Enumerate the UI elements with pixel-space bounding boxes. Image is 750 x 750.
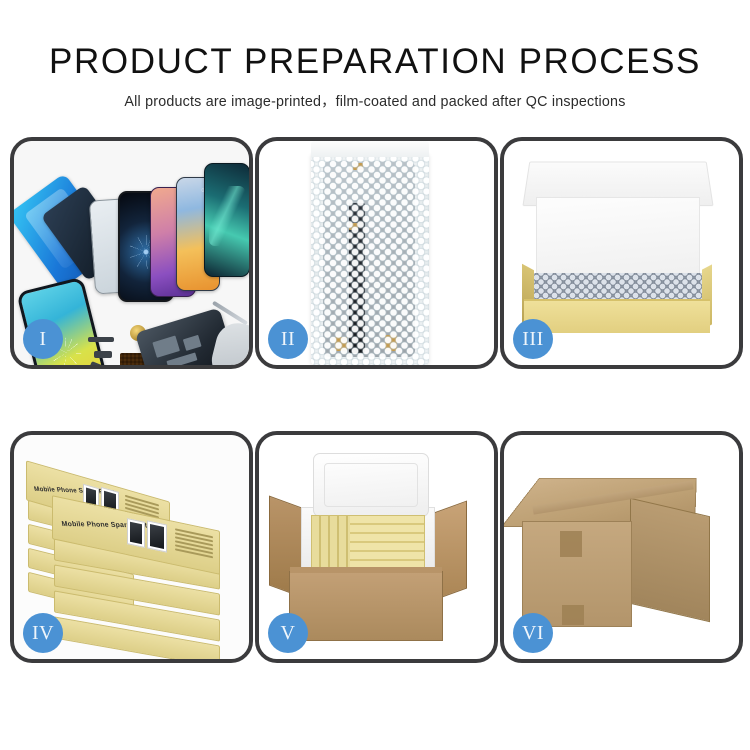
bag-seal-top [311, 141, 429, 157]
step-6-image: VI [504, 435, 739, 659]
process-step-2: II [255, 137, 498, 369]
carton-right-panel [630, 498, 710, 622]
page-title: PRODUCT PREPARATION PROCESS [0, 0, 750, 81]
step-badge-4: IV [23, 613, 63, 653]
packing-tape-lower [562, 605, 584, 625]
carton-front-panel [289, 571, 443, 641]
process-step-4: Mobile Phone Spare Parts Mobile Phone Sp… [10, 431, 253, 663]
step-2-image: II [259, 141, 494, 365]
bubble-texture [311, 153, 429, 365]
step-4-image: Mobile Phone Spare Parts Mobile Phone Sp… [14, 435, 249, 659]
box-window-front-1 [127, 518, 145, 548]
teal-gradient-phone [204, 163, 249, 277]
step-1-image: 08:08 [14, 141, 249, 365]
speaker-strip-part [88, 337, 114, 342]
step-5-image: V [259, 435, 494, 659]
product-preparation-page: PRODUCT PREPARATION PROCESS All products… [0, 0, 750, 750]
process-step-5: V [255, 431, 498, 663]
process-step-6: VI [500, 431, 743, 663]
step-badge-2: II [268, 319, 308, 359]
step-badge-1: I [23, 319, 63, 359]
page-subtitle: All products are image-printed，film-coat… [0, 81, 750, 111]
box-window-front-2 [147, 520, 167, 552]
inner-boxes-loaded [311, 515, 425, 569]
small-cable-part [94, 351, 112, 358]
bubble-wrap-bag [311, 153, 429, 365]
packing-tape-upper [560, 531, 582, 557]
process-step-grid: 08:08 [10, 137, 740, 697]
process-step-3: III [500, 137, 743, 369]
box-feature-list-front [175, 528, 213, 560]
white-foam-sheet [536, 197, 700, 277]
memory-chip [183, 335, 202, 351]
inner-box-front [524, 299, 710, 333]
step-badge-3: III [513, 319, 553, 359]
connector-chip [166, 352, 197, 365]
foam-lid [313, 453, 429, 517]
step-badge-5: V [268, 613, 308, 653]
page-header: PRODUCT PREPARATION PROCESS All products… [0, 0, 750, 111]
step-3-image: III [504, 141, 739, 365]
step-badge-6: VI [513, 613, 553, 653]
cpu-chip [152, 335, 180, 357]
process-step-1: 08:08 [10, 137, 253, 369]
